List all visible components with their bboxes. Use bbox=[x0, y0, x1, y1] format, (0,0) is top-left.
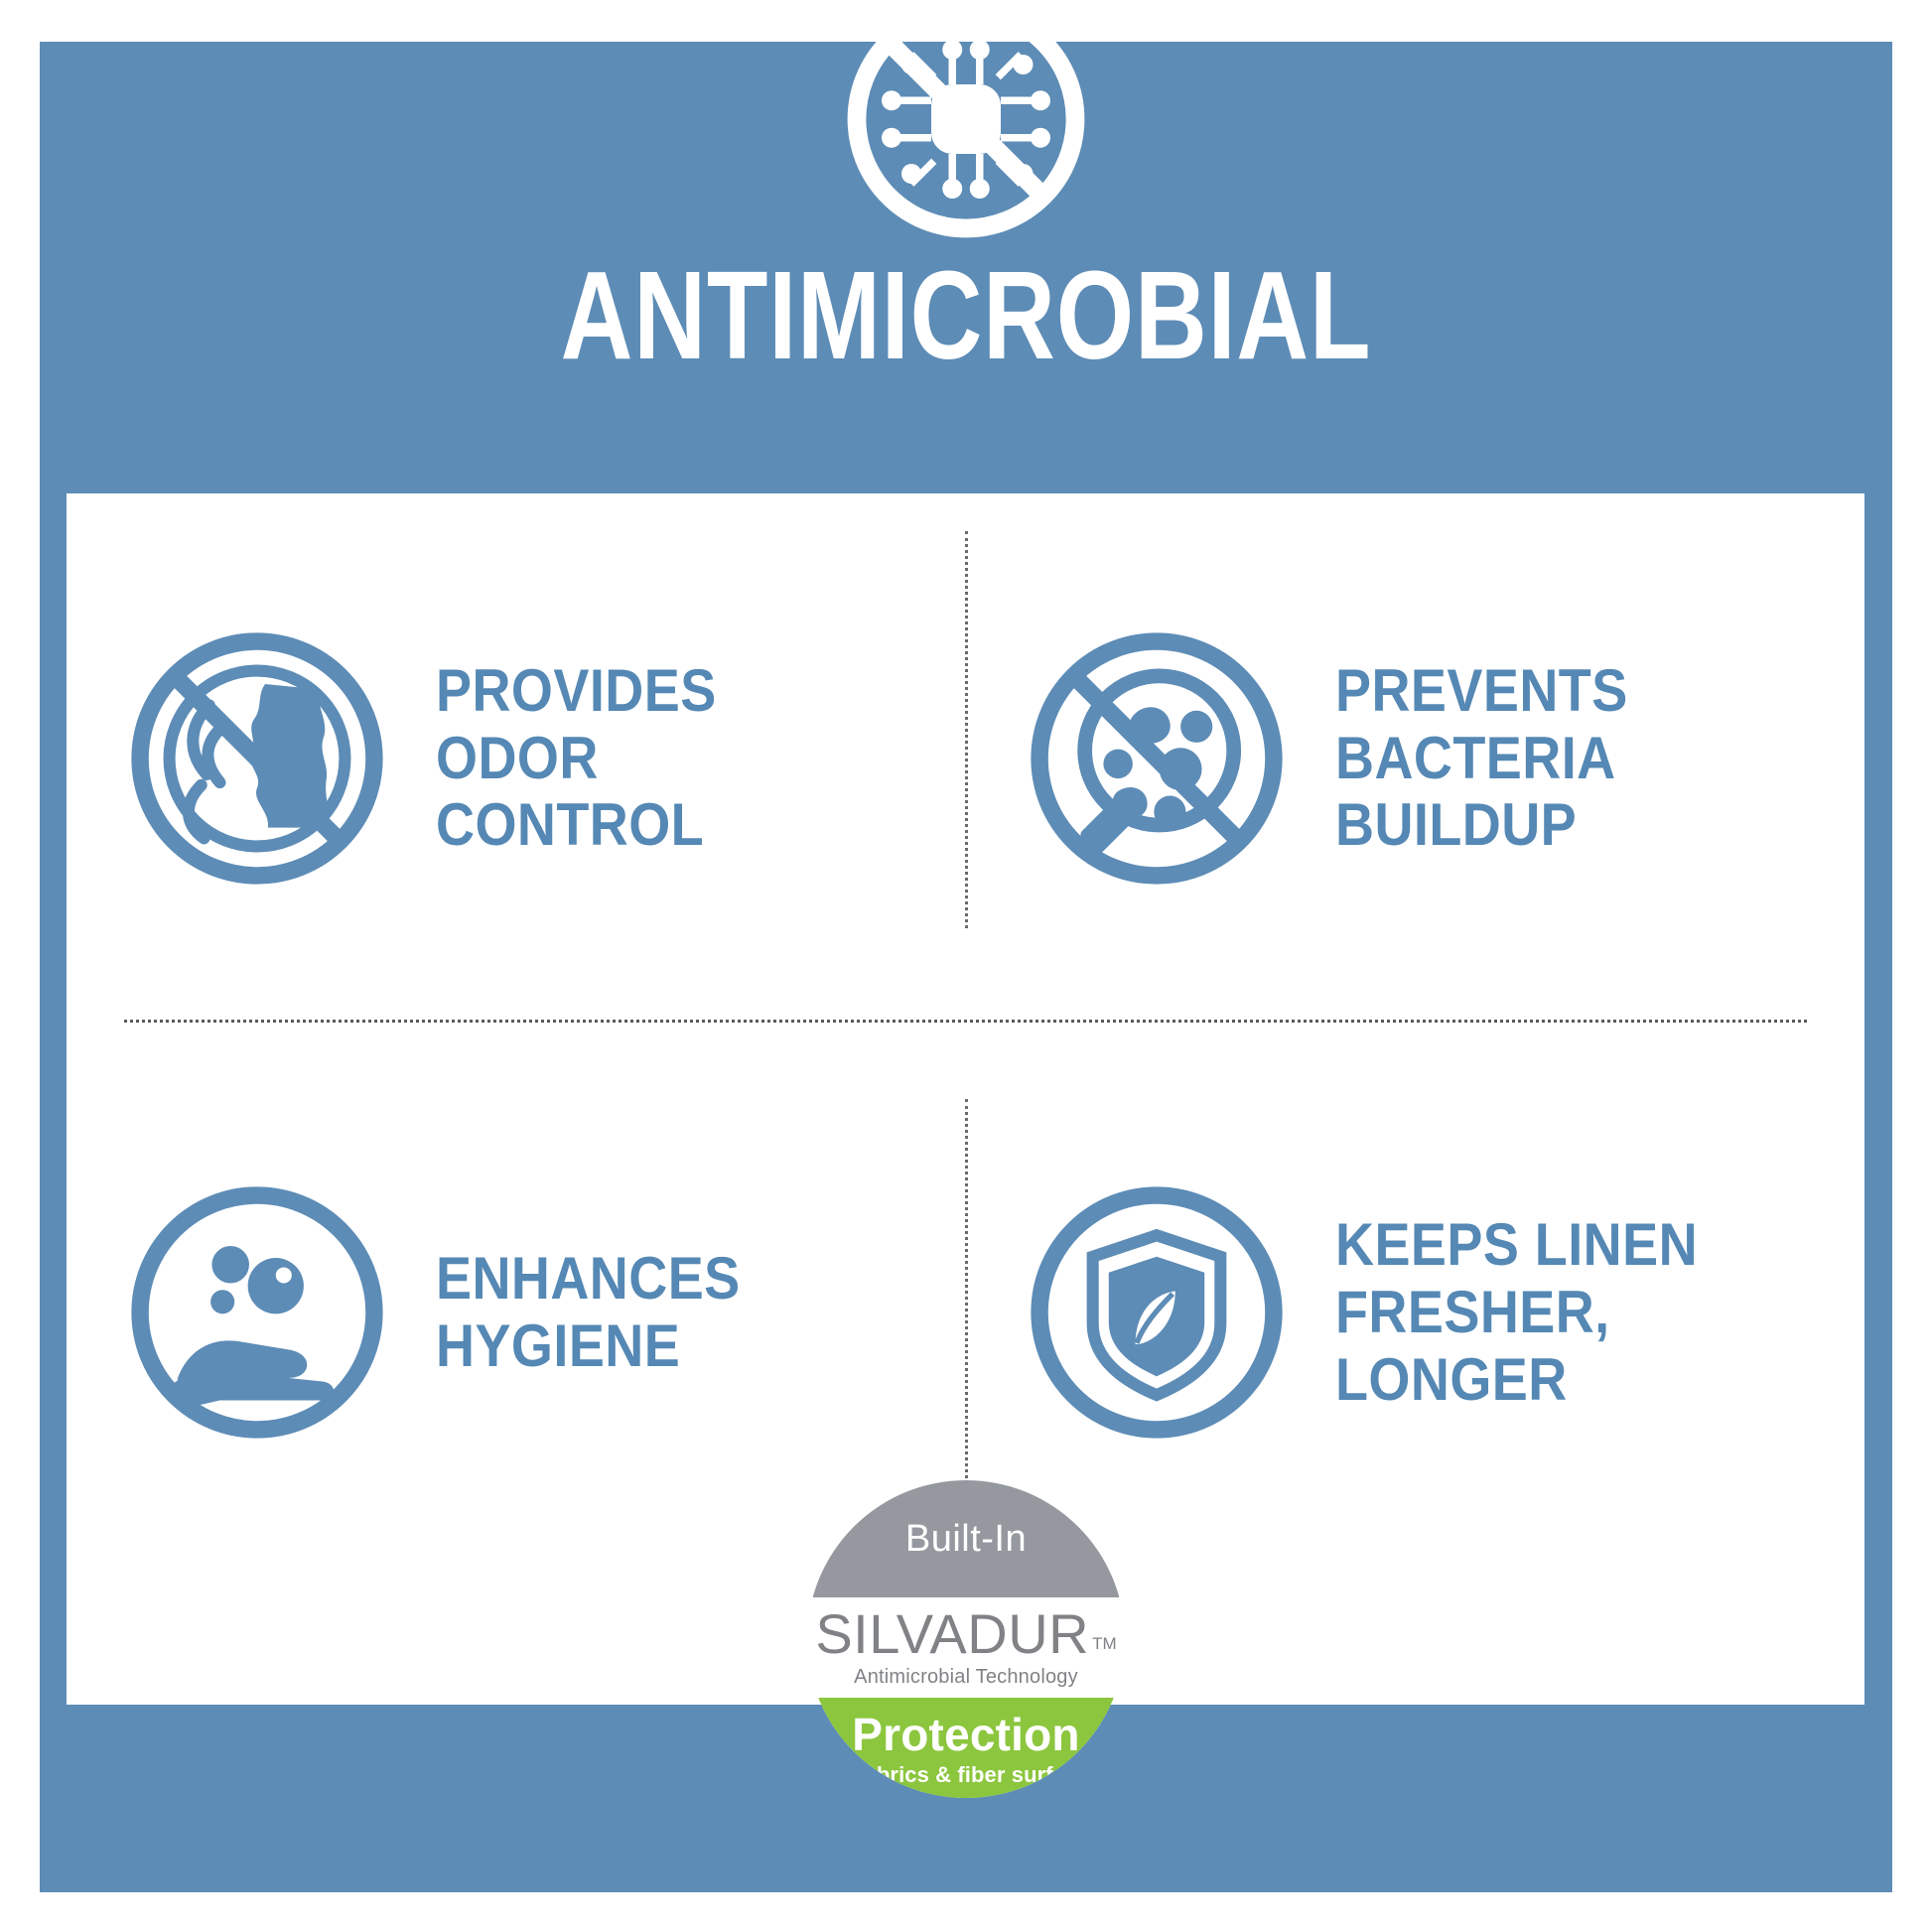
badge-built-in-label: Built-In bbox=[905, 1518, 1027, 1561]
hand-with-bubbles-icon bbox=[124, 1179, 390, 1446]
divider-vertical-bottom bbox=[965, 1099, 968, 1496]
badge-protection-sub: to fabrics & fiber surfaces bbox=[830, 1762, 1102, 1788]
feature-hygiene[interactable]: ENHANCES HYGIENE bbox=[67, 1099, 966, 1526]
page-title: ANTIMICROBIAL bbox=[225, 253, 1708, 378]
silvadur-badge[interactable]: Built-In SILVADUR TM Antimicrobial Techn… bbox=[807, 1480, 1125, 1798]
feature-fresher-longer[interactable]: KEEPS LINEN FRESHER, LONGER bbox=[966, 1099, 1865, 1526]
feature-label: PREVENTS BACTERIA BUILDUP bbox=[1335, 657, 1628, 859]
badge-top-band: Built-In bbox=[807, 1480, 1125, 1597]
feature-odor-control[interactable]: PROVIDES ODOR CONTROL bbox=[67, 493, 966, 1023]
badge-brand-name: SILVADUR bbox=[815, 1606, 1089, 1662]
divider-vertical-top bbox=[965, 531, 968, 928]
badge-brand-tagline: Antimicrobial Technology bbox=[854, 1666, 1078, 1689]
no-bacteria-petri-dish-icon bbox=[1024, 625, 1290, 892]
feature-bacteria-buildup[interactable]: PREVENTS BACTERIA BUILDUP bbox=[966, 493, 1865, 1023]
badge-trademark: TM bbox=[1092, 1634, 1117, 1654]
badge-protection-label: Protection bbox=[852, 1712, 1079, 1757]
shield-with-leaf-icon bbox=[1024, 1179, 1290, 1446]
feature-label: ENHANCES HYGIENE bbox=[436, 1245, 741, 1380]
badge-brand-band: SILVADUR TM Antimicrobial Technology bbox=[807, 1597, 1125, 1698]
header: ANTIMICROBIAL bbox=[40, 0, 1892, 467]
feature-label: KEEPS LINEN FRESHER, LONGER bbox=[1335, 1211, 1698, 1413]
divider-horizontal bbox=[124, 1020, 1807, 1023]
virus-blocked-icon bbox=[842, 0, 1090, 248]
badge-bottom-band: Protection to fabrics & fiber surfaces bbox=[807, 1698, 1125, 1798]
no-odor-icon bbox=[124, 625, 390, 892]
infographic-root: ANTIMICROBIAL bbox=[0, 0, 1932, 1932]
feature-label: PROVIDES ODOR CONTROL bbox=[436, 657, 717, 859]
